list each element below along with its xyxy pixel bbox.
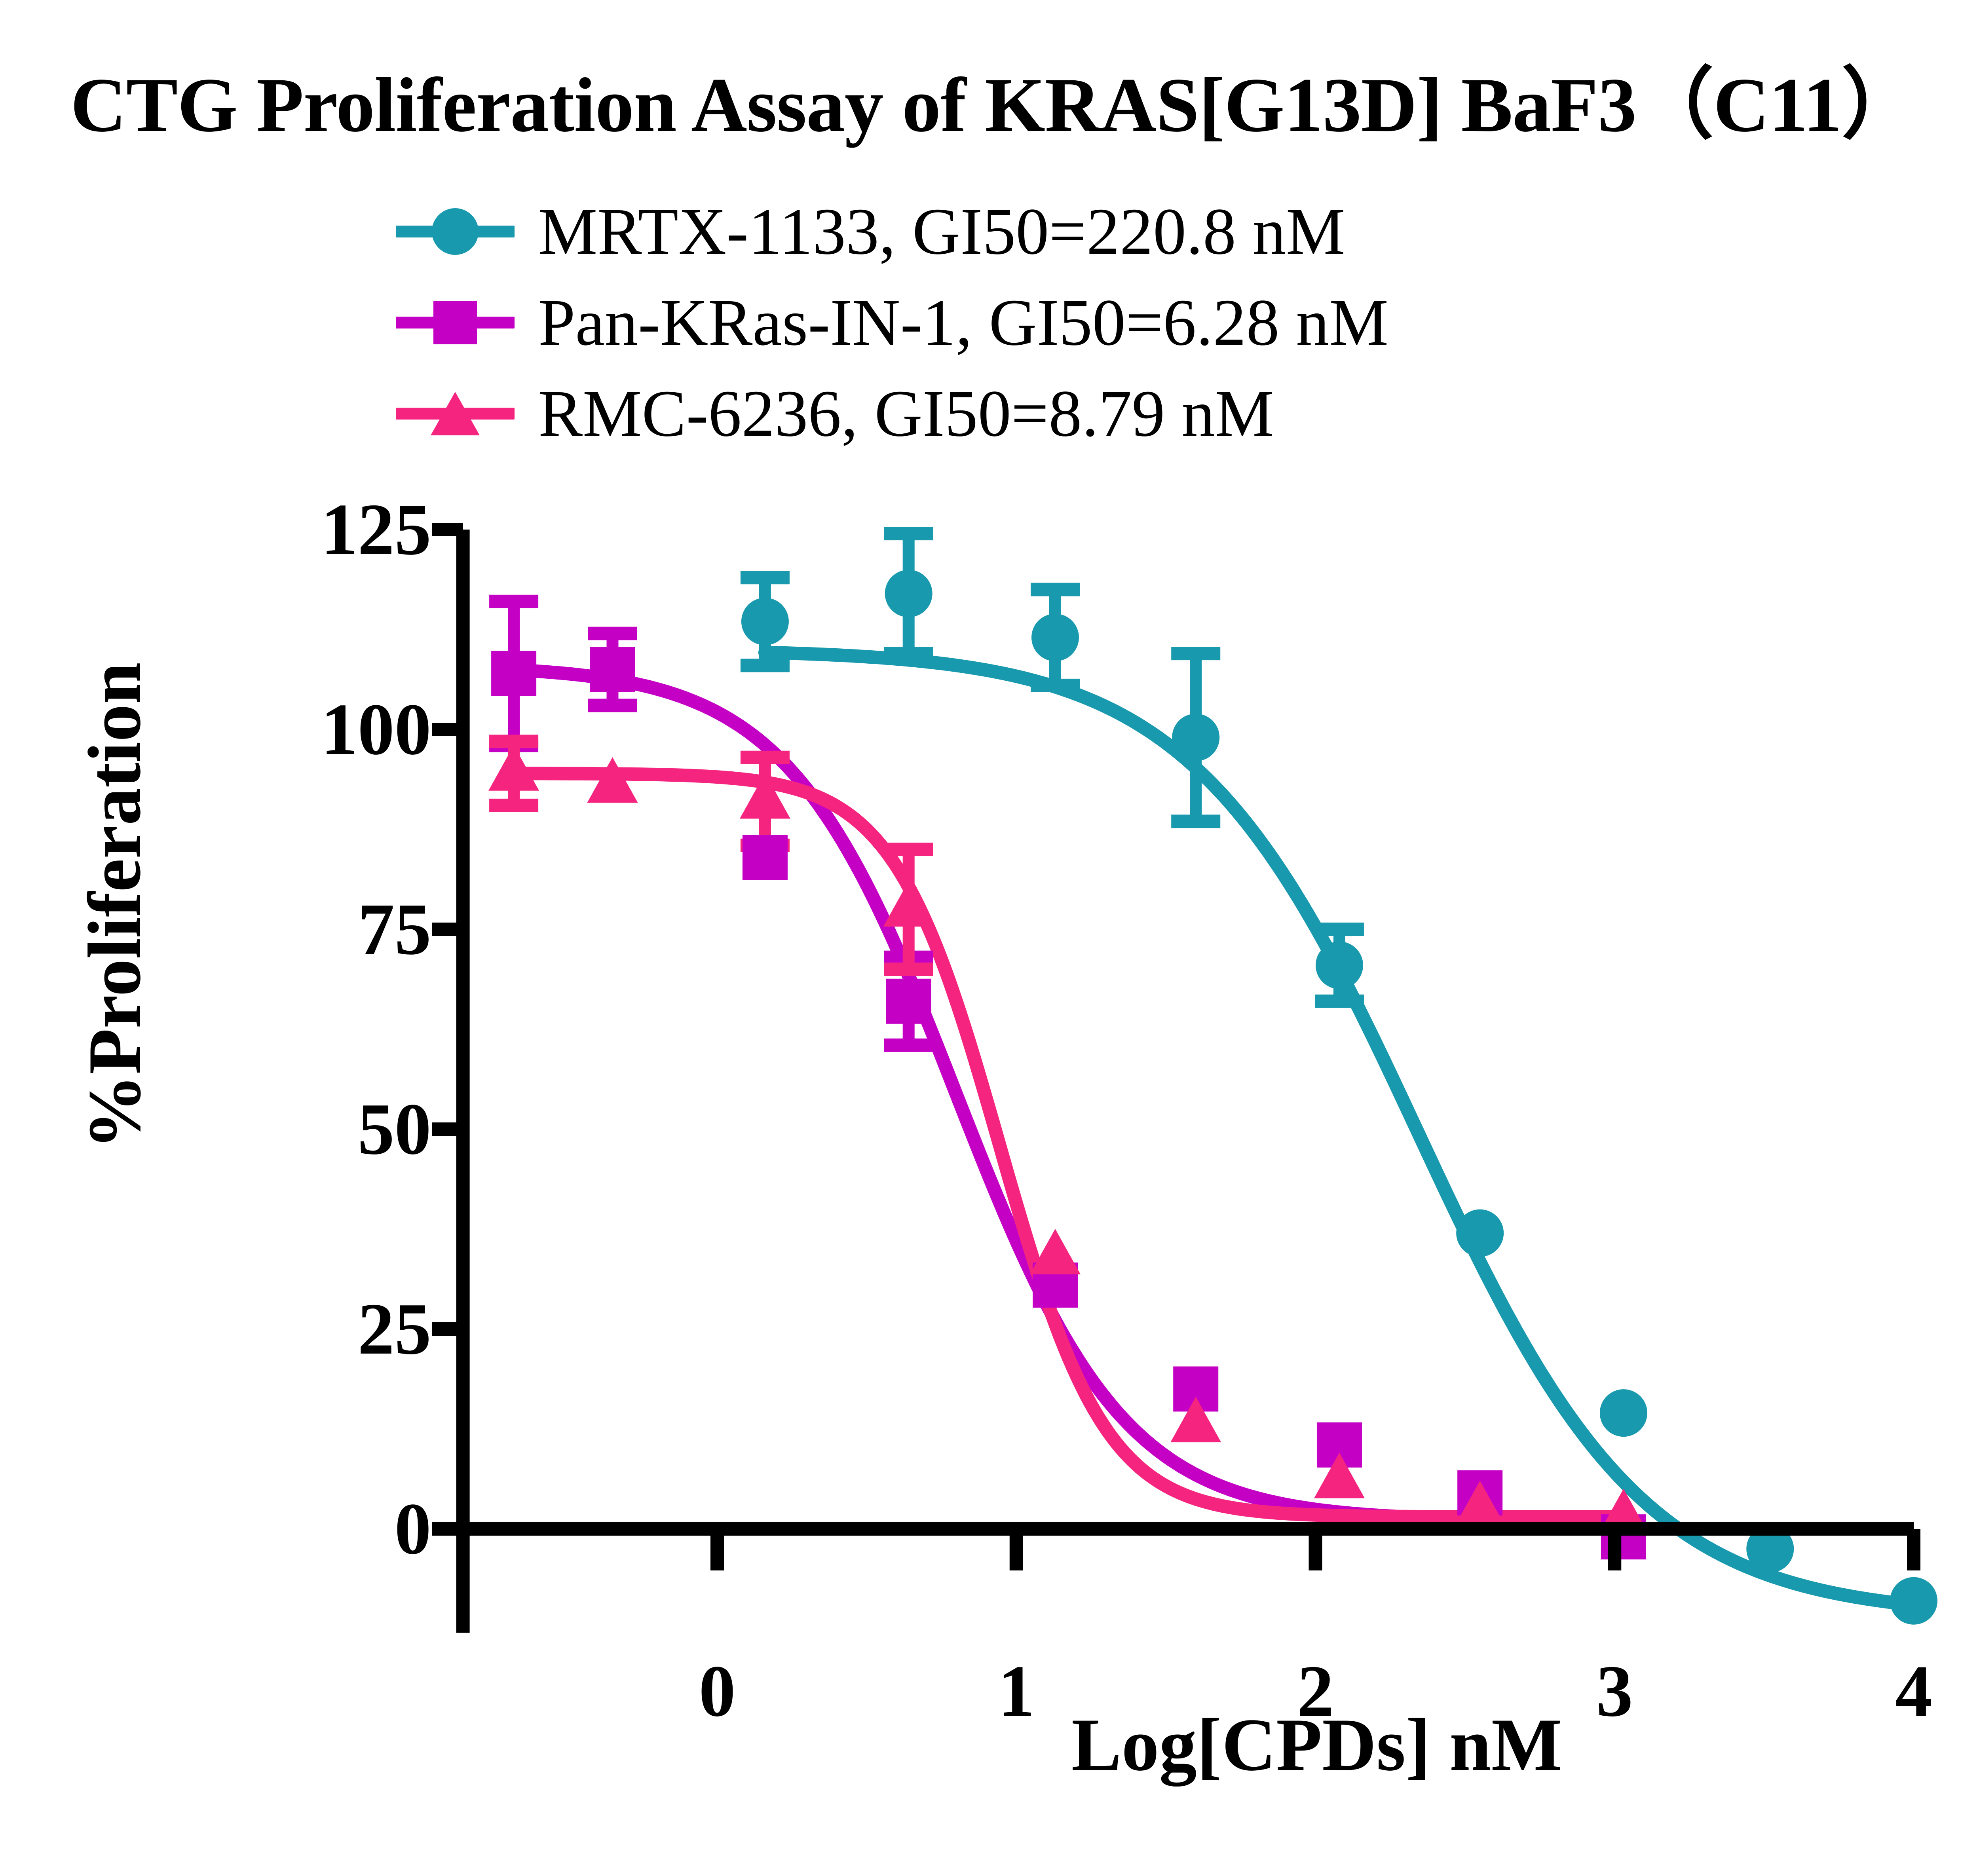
data-point-circle bbox=[741, 598, 789, 645]
data-point-triangle bbox=[883, 881, 934, 927]
data-point-circle bbox=[1890, 1577, 1937, 1625]
data-point-square bbox=[743, 835, 788, 880]
data-point-circle bbox=[1031, 614, 1079, 661]
data-point-square bbox=[590, 647, 635, 692]
data-point-circle bbox=[1456, 1210, 1504, 1257]
data-point-circle bbox=[1316, 942, 1363, 989]
data-point-circle bbox=[1172, 714, 1219, 761]
plot-area bbox=[0, 0, 1979, 1876]
data-point-circle bbox=[885, 570, 933, 617]
chart-canvas: CTG Proliferation Assay of KRAS[G13D] Ba… bbox=[0, 0, 1979, 1876]
curve-rmc-6236 bbox=[514, 773, 1624, 1517]
curve-pan-kras-in-1 bbox=[514, 670, 1624, 1521]
data-point-circle bbox=[1600, 1389, 1647, 1437]
data-point-square bbox=[491, 651, 536, 696]
data-point-square bbox=[886, 979, 931, 1024]
